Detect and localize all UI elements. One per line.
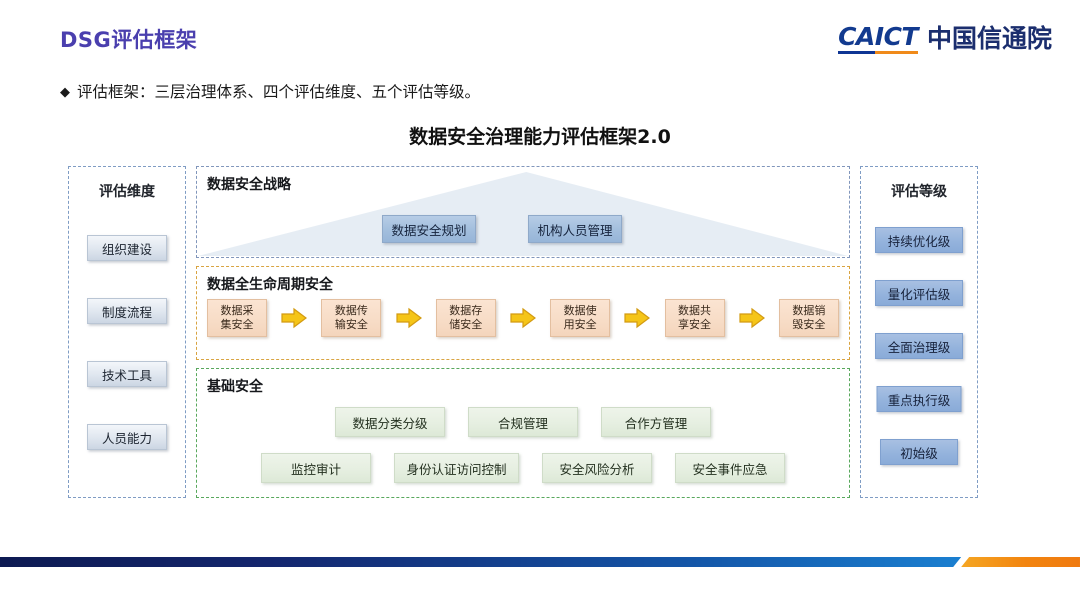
levels-panel: 评估等级 持续优化级 量化评估级 全面治理级 重点执行级 初始级 [860,166,978,498]
lifecycle-step-line2: 储安全 [449,318,482,331]
lifecycle-step-usage[interactable]: 数据使用安全 [550,299,610,337]
lifecycle-step-line1: 数据传 [335,304,368,317]
lifecycle-step-line1: 数据使 [564,304,597,317]
basic-security-band-title: 基础安全 [207,376,263,396]
lifecycle-step-line2: 输安全 [335,318,368,331]
dimension-chip-organization[interactable]: 组织建设 [87,235,167,261]
lifecycle-band: 数据全生命周期安全 数据采集安全 数据传输安全 数据存储安全 数据使用安全 [196,266,850,360]
basic-box-compliance-mgmt[interactable]: 合规管理 [468,407,578,437]
strategy-box-security-planning[interactable]: 数据安全规划 [382,215,476,243]
flow-arrow-icon [739,307,765,329]
bottom-bar-blue-segment [0,557,961,567]
dimensions-panel-heading: 评估维度 [69,181,185,201]
diamond-bullet-icon: ◆ [60,85,70,100]
page-title: DSG评估框架 [60,24,197,54]
level-chip-key-execution[interactable]: 重点执行级 [877,386,962,412]
strategy-box-org-personnel-mgmt[interactable]: 机构人员管理 [528,215,622,243]
lifecycle-step-storage[interactable]: 数据存储安全 [436,299,496,337]
basic-box-identity-access-control[interactable]: 身份认证访问控制 [394,453,519,483]
lifecycle-step-line1: 数据销 [792,304,825,317]
lifecycle-step-transmission[interactable]: 数据传输安全 [321,299,381,337]
lifecycle-step-line2: 集安全 [221,318,254,331]
logo-chinese-text: 中国信通院 [927,26,1052,54]
lifecycle-band-title: 数据全生命周期安全 [207,274,333,294]
flow-arrow-icon [510,307,536,329]
bullet-text: 评估框架：三层治理体系、四个评估维度、五个评估等级。 [77,83,480,101]
lifecycle-flow: 数据采集安全 数据传输安全 数据存储安全 数据使用安全 数据共享安全 [207,299,839,337]
basic-box-risk-analysis[interactable]: 安全风险分析 [542,453,652,483]
level-chip-quantitative-evaluation[interactable]: 量化评估级 [875,280,963,306]
dimensions-panel: 评估维度 组织建设 制度流程 技术工具 人员能力 [68,166,186,498]
lifecycle-step-line2: 用安全 [564,318,597,331]
lifecycle-step-destruction[interactable]: 数据销毁安全 [779,299,839,337]
levels-panel-heading: 评估等级 [861,181,977,201]
dimension-chip-personnel[interactable]: 人员能力 [87,424,167,450]
lifecycle-step-collection[interactable]: 数据采集安全 [207,299,267,337]
level-chip-comprehensive-governance[interactable]: 全面治理级 [875,333,963,359]
lifecycle-step-sharing[interactable]: 数据共享安全 [665,299,725,337]
flow-arrow-icon [624,307,650,329]
flow-arrow-icon [396,307,422,329]
logo-latin-text: CAICT [838,24,918,49]
dimension-chip-process[interactable]: 制度流程 [87,298,167,324]
logo-underline-rule [838,51,918,54]
lifecycle-step-line1: 数据采 [221,304,254,317]
strategy-band-title: 数据安全战略 [207,174,291,194]
basic-security-row-2: 监控审计 身份认证访问控制 安全风险分析 安全事件应急 [197,453,849,483]
caict-logo: CAICT 中国信通院 [838,24,1052,54]
center-stack: 数据安全战略 数据安全规划 机构人员管理 数据全生命周期安全 数据采集安全 数据… [196,166,850,498]
basic-box-partner-mgmt[interactable]: 合作方管理 [601,407,711,437]
lifecycle-step-line1: 数据存 [449,304,482,317]
level-chip-initial[interactable]: 初始级 [880,439,958,465]
bullet-line: ◆评估框架：三层治理体系、四个评估维度、五个评估等级。 [60,80,480,102]
lifecycle-step-line1: 数据共 [678,304,711,317]
basic-security-band: 基础安全 数据分类分级 合规管理 合作方管理 监控审计 身份认证访问控制 安全风… [196,368,850,498]
framework-diagram: 评估维度 组织建设 制度流程 技术工具 人员能力 评估等级 持续优化级 量化评估… [68,166,978,498]
lifecycle-step-line2: 享安全 [678,318,711,331]
dimension-chip-technology[interactable]: 技术工具 [87,361,167,387]
basic-security-row-1: 数据分类分级 合规管理 合作方管理 [197,407,849,437]
flow-arrow-icon [281,307,307,329]
logo-mark: CAICT [838,24,918,54]
strategy-triangle-shape [198,172,848,256]
bottom-bar-orange-segment [961,557,1080,567]
basic-box-data-classification[interactable]: 数据分类分级 [335,407,445,437]
basic-box-monitoring-audit[interactable]: 监控审计 [261,453,371,483]
diagram-title: 数据安全治理能力评估框架2.0 [0,122,1080,149]
lifecycle-step-line2: 毁安全 [792,318,825,331]
basic-box-incident-response[interactable]: 安全事件应急 [675,453,785,483]
level-chip-continuous-optimization[interactable]: 持续优化级 [875,227,963,253]
strategy-band: 数据安全战略 数据安全规划 机构人员管理 [196,166,850,258]
bottom-accent-bar [0,557,1080,567]
